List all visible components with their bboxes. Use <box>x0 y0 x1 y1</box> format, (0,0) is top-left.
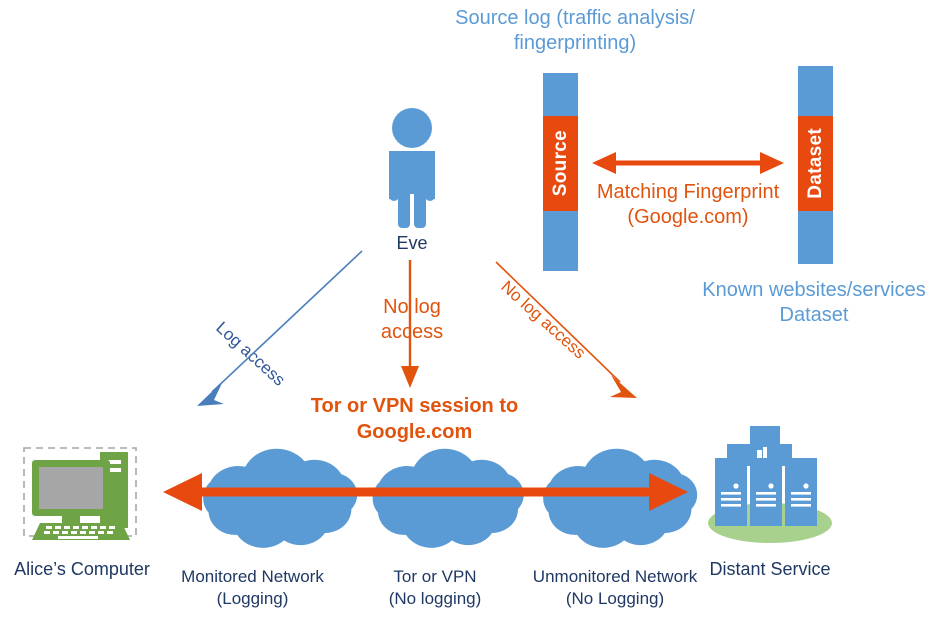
cloud-monitored-network <box>203 449 357 548</box>
matching-fingerprint-double-arrow <box>592 152 784 174</box>
known-dataset-line2: Dataset <box>680 303 948 328</box>
matching-fingerprint-line1: Matching Fingerprint <box>578 180 798 205</box>
no-log-access-center-line1: No log <box>352 295 472 320</box>
network-label-unmonitored-line2: (No Logging) <box>520 588 710 610</box>
source-bar-label-segment: Source <box>543 116 578 211</box>
cloud-unmonitored-network <box>543 449 697 548</box>
log-access-label: Log access <box>212 318 289 390</box>
source-bar-label: Source <box>550 130 572 196</box>
computer-icon <box>18 444 148 549</box>
alice-computer-label: Alice’s Computer <box>2 558 162 581</box>
known-dataset-line1: Known websites/services <box>680 278 948 303</box>
dataset-bar-label-segment: Dataset <box>798 116 833 211</box>
network-label-monitored-line2: (Logging) <box>165 588 340 610</box>
cloud-tor-vpn <box>373 449 524 548</box>
session-heading: Tor or VPN session to Google.com <box>282 393 547 445</box>
network-label-torvpn-line1: Tor or VPN <box>355 566 515 588</box>
source-bar-bottom-segment <box>543 211 578 271</box>
network-label-monitored-line1: Monitored Network <box>165 566 340 588</box>
session-double-arrow <box>163 473 688 511</box>
eve-figure <box>373 108 451 228</box>
distant-service-label: Distant Service <box>690 558 850 581</box>
session-heading-line2: Google.com <box>282 419 547 445</box>
network-label-torvpn: Tor or VPN (No logging) <box>355 566 515 610</box>
no-log-access-center-line2: access <box>352 320 472 345</box>
distant-service <box>700 420 840 545</box>
eve-label: Eve <box>362 232 462 255</box>
dataset-bar-bottom-segment <box>798 211 833 264</box>
known-dataset-label: Known websites/services Dataset <box>680 278 948 328</box>
no-log-access-center-label: No log access <box>352 295 472 345</box>
network-label-unmonitored-line1: Unmonitored Network <box>520 566 710 588</box>
source-bar: Source <box>543 73 578 271</box>
server-stack-icon <box>700 420 840 545</box>
source-log-heading-line1: Source log (traffic analysis/ <box>405 6 745 31</box>
matching-fingerprint-label: Matching Fingerprint (Google.com) <box>578 180 798 230</box>
matching-fingerprint-line2: (Google.com) <box>578 205 798 230</box>
session-heading-line1: Tor or VPN session to <box>282 393 547 419</box>
dataset-bar-top-segment <box>798 66 833 116</box>
network-label-monitored: Monitored Network (Logging) <box>165 566 340 610</box>
source-bar-top-segment <box>543 73 578 116</box>
network-label-torvpn-line2: (No logging) <box>355 588 515 610</box>
network-label-unmonitored: Unmonitored Network (No Logging) <box>520 566 710 610</box>
dataset-bar-label: Dataset <box>805 128 827 199</box>
alice-computer <box>18 444 148 549</box>
no-log-access-right-label: No log access <box>497 277 590 363</box>
source-log-heading-line2: fingerprinting) <box>405 31 745 56</box>
dataset-bar: Dataset <box>798 66 833 264</box>
person-icon <box>373 108 451 228</box>
source-log-heading: Source log (traffic analysis/ fingerprin… <box>405 6 745 56</box>
